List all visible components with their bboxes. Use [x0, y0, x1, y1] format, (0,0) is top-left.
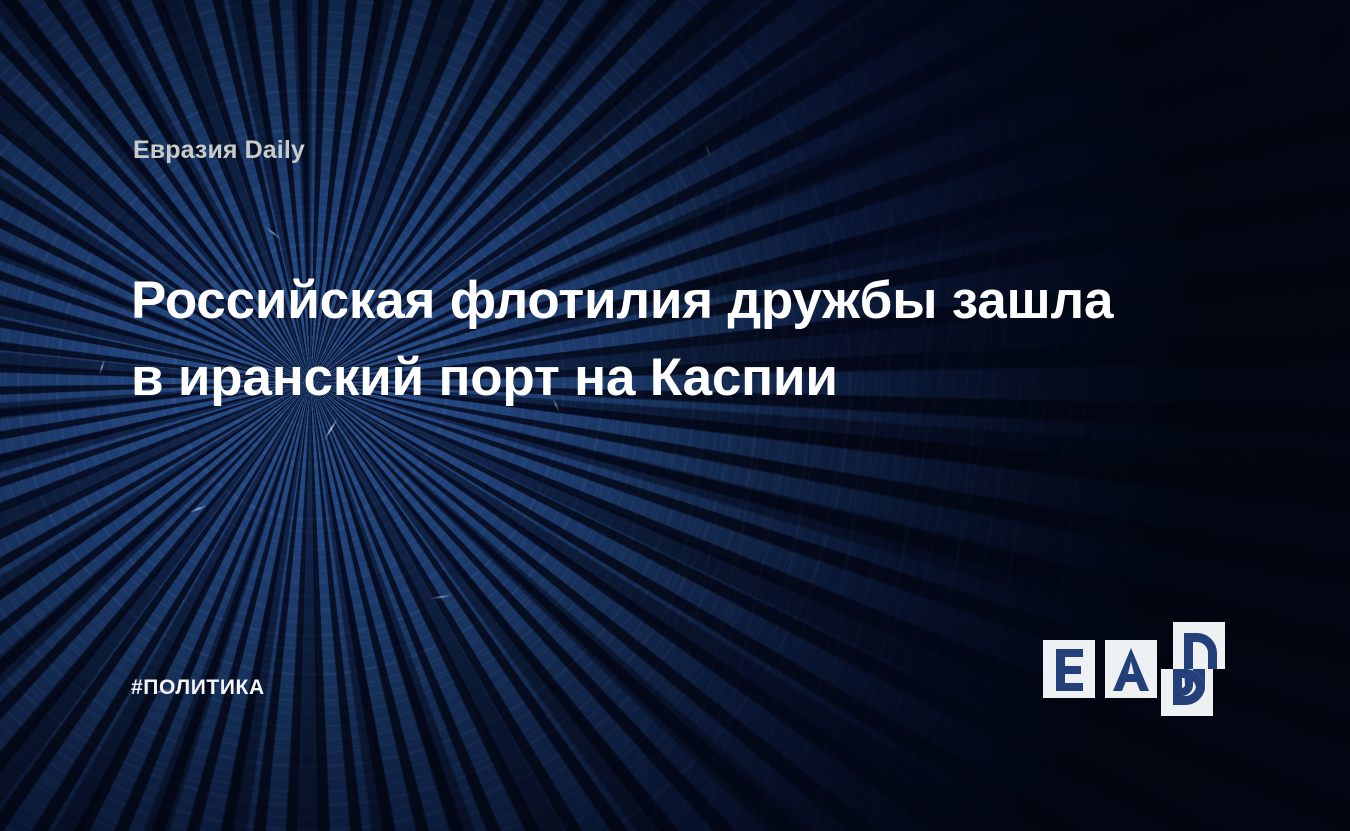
logo-tile-d-top [1173, 622, 1225, 669]
headline: Российская флотилия дружбы зашла в иранс… [131, 262, 1191, 417]
brand-name: Евразия Daily [133, 136, 305, 165]
category-tag: #ПОЛИТИКА [131, 676, 265, 700]
news-share-card: Евразия Daily Российская флотилия дружбы… [0, 0, 1350, 831]
ead-logo [1043, 622, 1225, 714]
logo-tile-e [1043, 640, 1095, 698]
logo-tile-d-bot [1161, 669, 1213, 716]
logo-tile-a [1105, 640, 1157, 698]
